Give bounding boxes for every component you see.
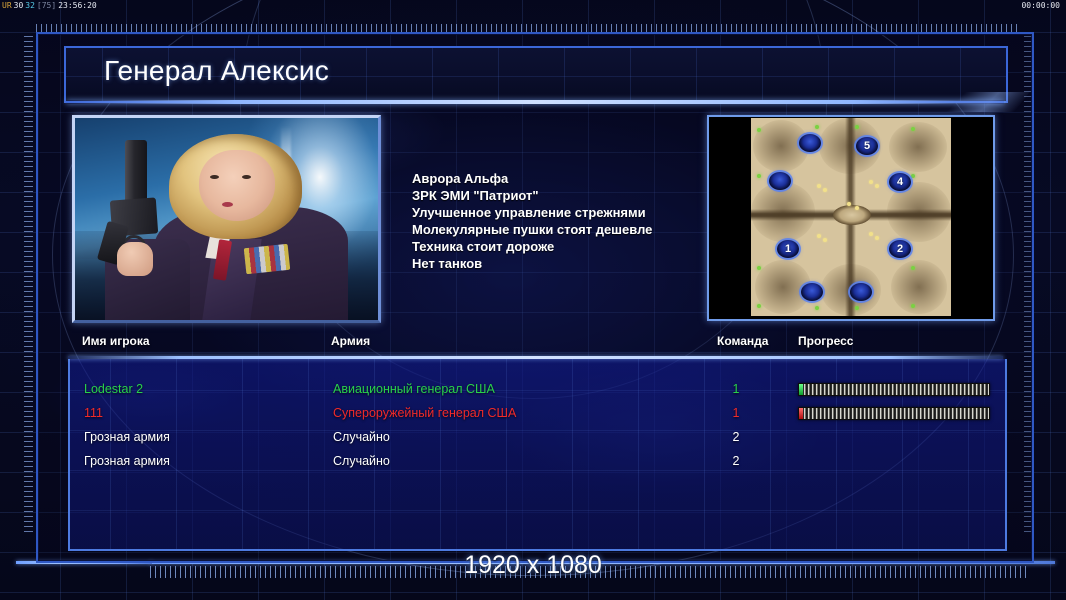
table-row[interactable]: Грозная армия Случайно 2: [70, 425, 1005, 449]
ability-line: Техника стоит дороже: [412, 238, 712, 255]
general-portrait: [72, 115, 381, 323]
general-info-band: Аврора Альфа ЗРК ЭМИ "Патриот" Улучшенно…: [38, 112, 1032, 322]
player-army[interactable]: Авиационный генерал США: [333, 377, 495, 401]
general-ability-list: Аврора Альфа ЗРК ЭМИ "Патриот" Улучшенно…: [412, 170, 712, 272]
title-underline: [66, 100, 1004, 104]
terrain-blotch: [889, 122, 947, 172]
table-row[interactable]: Lodestar 2 Авиационный генерал США 1: [70, 377, 1005, 401]
ability-line: ЗРК ЭМИ "Патриот": [412, 187, 712, 204]
minimap-start-position[interactable]: [769, 172, 791, 190]
debug-value-2: 32: [24, 1, 36, 10]
player-team[interactable]: 1: [725, 401, 747, 425]
progress-bar-cap: [799, 384, 803, 395]
player-team[interactable]: 2: [725, 449, 747, 473]
player-name[interactable]: 111: [84, 401, 103, 425]
player-progress: [798, 407, 990, 420]
player-progress: [798, 383, 990, 396]
debug-right-clock: 00:00:00: [1021, 0, 1060, 11]
table-header-divider: [68, 356, 1003, 359]
column-header-name: Имя игрока: [82, 334, 150, 348]
portrait-lips: [222, 202, 233, 207]
page-title: Генерал Алексис: [104, 55, 329, 87]
player-table-header: Имя игрока Армия Команда Прогресс: [38, 334, 1032, 354]
minimap-start-position[interactable]: [799, 134, 821, 152]
debug-tag: UR: [1, 1, 13, 10]
portrait-hand: [117, 242, 153, 276]
progress-bar-cap: [799, 408, 803, 419]
portrait-eye-left: [210, 175, 219, 179]
player-list-panel: Lodestar 2 Авиационный генерал США 1 111…: [68, 359, 1007, 551]
debug-left-readout: UR3032[75]23:56:20: [1, 0, 98, 11]
minimap-start-position[interactable]: 5: [856, 137, 878, 155]
title-bar: Генерал Алексис: [64, 46, 1008, 103]
minimap-preview[interactable]: 5 4 1 2: [707, 115, 995, 321]
ability-line: Аврора Альфа: [412, 170, 712, 187]
minimap-terrain: 5 4 1 2: [751, 118, 951, 316]
column-header-army: Армия: [331, 334, 370, 348]
minimap-start-position[interactable]: 2: [889, 240, 911, 258]
ability-line: Улучшенное управление стрежнями: [412, 204, 712, 221]
debug-bracket: [75]: [36, 1, 57, 10]
player-army[interactable]: Супероружейный генерал США: [333, 401, 516, 425]
player-name[interactable]: Грозная армия: [84, 425, 170, 449]
player-name[interactable]: Грозная армия: [84, 449, 170, 473]
ability-line: Молекулярные пушки стоят дешевле: [412, 221, 712, 238]
ruler-left: [24, 36, 33, 536]
ability-line: Нет танков: [412, 255, 712, 272]
debug-topbar: UR3032[75]23:56:20 00:00:00: [0, 0, 1066, 11]
progress-bar: [798, 407, 990, 420]
main-panel-frame: Генерал Алексис: [36, 32, 1034, 563]
terrain-center-feature: [833, 205, 871, 225]
column-header-progress: Прогресс: [798, 334, 853, 348]
column-header-team: Команда: [717, 334, 768, 348]
portrait-eye-right: [242, 175, 251, 179]
minimap-start-position[interactable]: [850, 283, 872, 301]
portrait-artwork: [75, 118, 378, 320]
player-army[interactable]: Случайно: [333, 449, 390, 473]
player-team[interactable]: 1: [725, 377, 747, 401]
table-row[interactable]: 111 Супероружейный генерал США 1: [70, 401, 1005, 425]
table-row[interactable]: Грозная армия Случайно 2: [70, 449, 1005, 473]
resolution-label: 1920 x 1080: [0, 551, 1066, 580]
game-options-screen: UR3032[75]23:56:20 00:00:00 Генерал Алек…: [0, 0, 1066, 600]
progress-bar: [798, 383, 990, 396]
player-team[interactable]: 2: [725, 425, 747, 449]
minimap-start-position[interactable]: [801, 283, 823, 301]
debug-clock: 23:56:20: [57, 1, 98, 10]
minimap-start-position[interactable]: 4: [889, 173, 911, 191]
debug-value-1: 30: [13, 1, 25, 10]
player-army[interactable]: Случайно: [333, 425, 390, 449]
portrait-face: [199, 150, 275, 221]
minimap-start-position[interactable]: 1: [777, 240, 799, 258]
player-name[interactable]: Lodestar 2: [84, 377, 143, 401]
portrait-medals: [243, 243, 289, 273]
terrain-blotch: [891, 260, 947, 314]
